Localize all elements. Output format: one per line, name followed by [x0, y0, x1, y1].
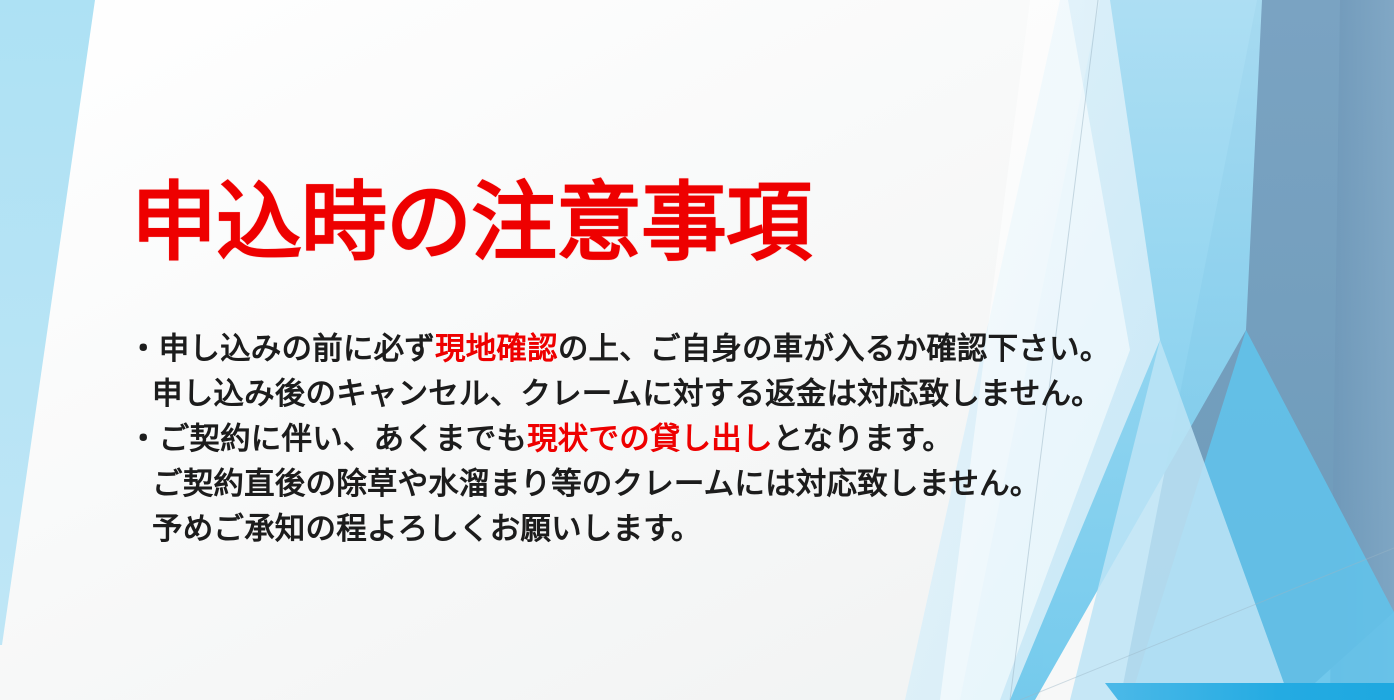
- body-text: ・ご契約に伴い、あくまでも: [128, 422, 527, 456]
- body-text-block: ・申し込みの前に必ず現地確認の上、ご自身の車が入るか確認下さい。申し込み後のキャ…: [128, 327, 1128, 552]
- body-text: の上、ご自身の車が入るか確認下さい。: [558, 332, 1111, 366]
- body-line: ご契約直後の除草や水溜まり等のクレームには対応致しません。: [128, 462, 1128, 507]
- page-title: 申込時の注意事項: [131, 178, 811, 269]
- slide-canvas: 申込時の注意事項 ・申し込みの前に必ず現地確認の上、ご自身の車が入るか確認下さい…: [0, 0, 1394, 700]
- body-line: 申し込み後のキャンセル、クレームに対する返金は対応致しません。: [128, 372, 1128, 417]
- body-text: となります。: [773, 422, 953, 456]
- body-text: ご契約直後の除草や水溜まり等のクレームには対応致しません。: [152, 467, 1040, 501]
- highlighted-text: 現地確認: [435, 332, 558, 366]
- highlighted-text: 現状での貸し出し: [527, 422, 773, 456]
- body-text: ・申し込みの前に必ず: [128, 332, 435, 366]
- body-text: 予めご承知の程よろしくお願いします。: [152, 512, 702, 546]
- slide-content: 申込時の注意事項 ・申し込みの前に必ず現地確認の上、ご自身の車が入るか確認下さい…: [0, 0, 1394, 700]
- body-line: 予めご承知の程よろしくお願いします。: [128, 507, 1128, 552]
- body-line: ・申し込みの前に必ず現地確認の上、ご自身の車が入るか確認下さい。: [128, 327, 1128, 372]
- body-text: 申し込み後のキャンセル、クレームに対する返金は対応致しません。: [152, 377, 1102, 411]
- body-line: ・ご契約に伴い、あくまでも現状での貸し出しとなります。: [128, 417, 1128, 462]
